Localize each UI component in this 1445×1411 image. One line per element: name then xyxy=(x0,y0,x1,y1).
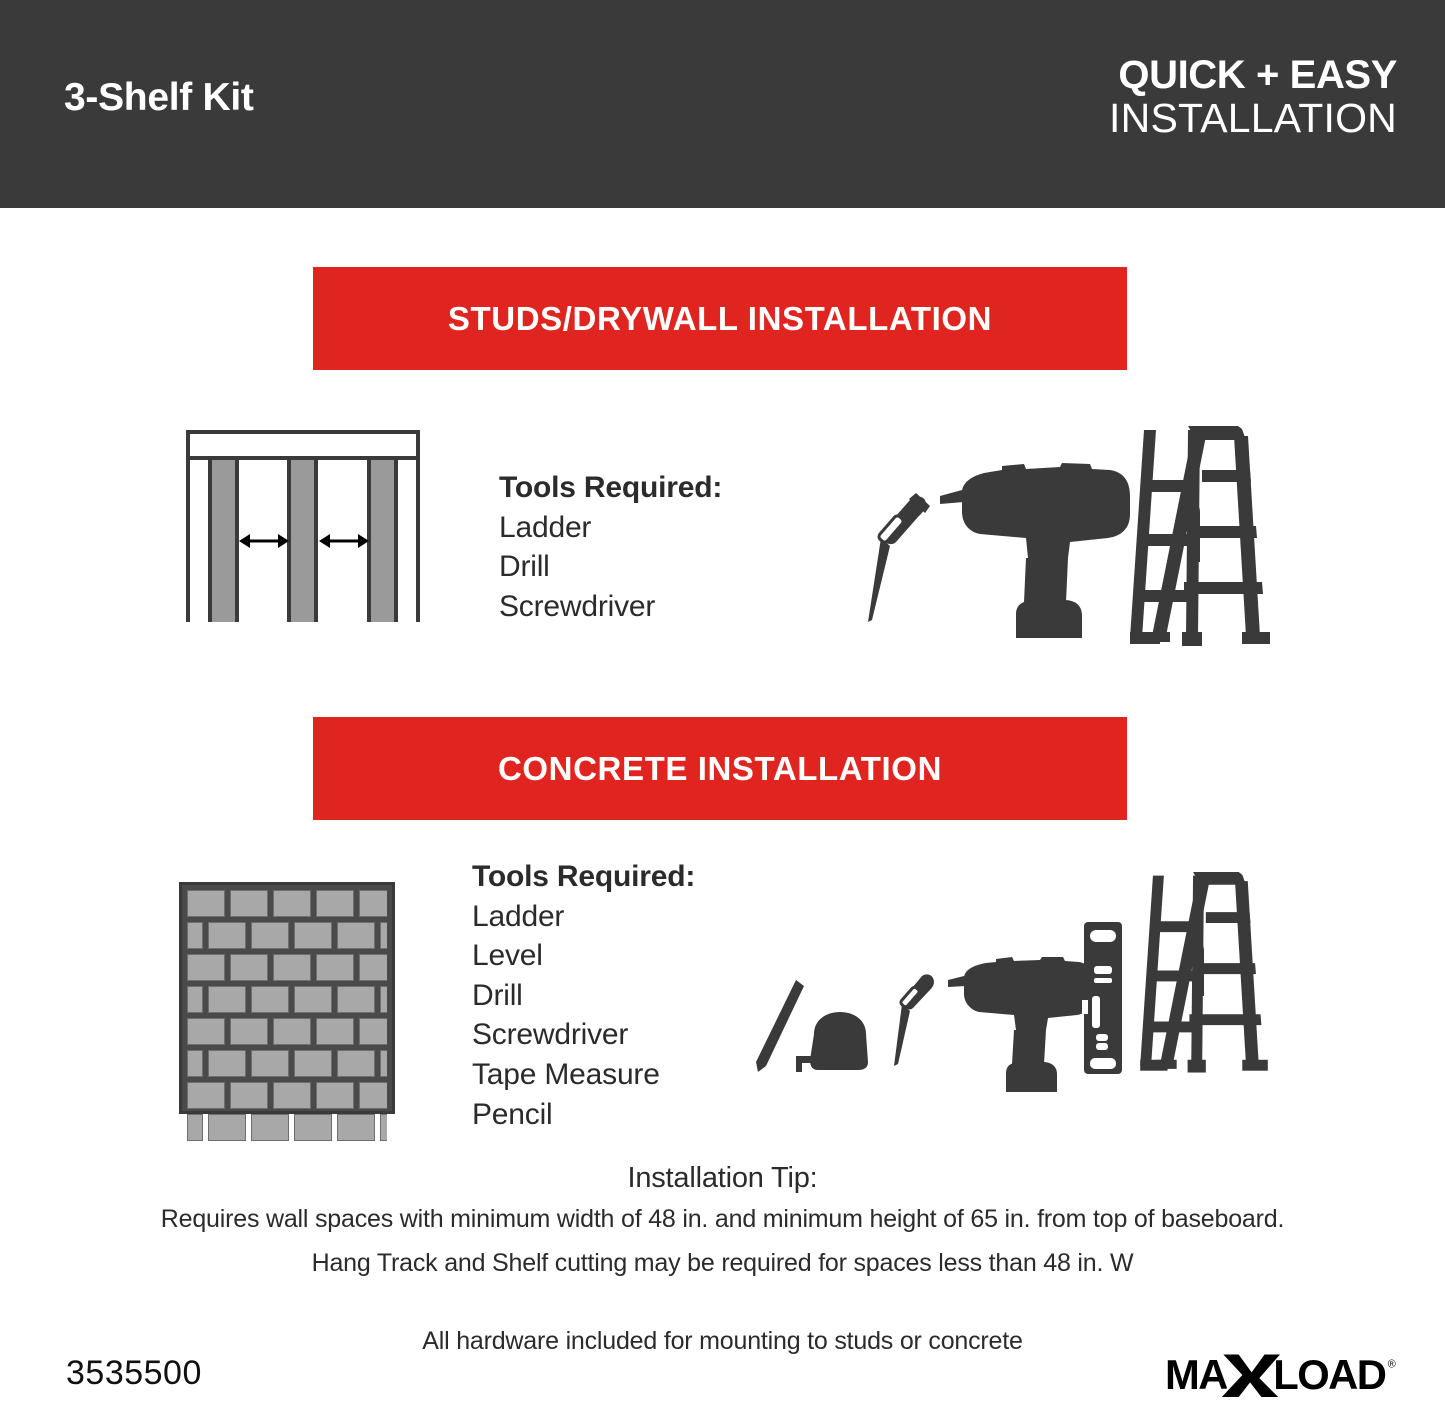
brick xyxy=(316,1018,354,1045)
logo-registered-mark: ® xyxy=(1388,1358,1396,1370)
brick xyxy=(273,1082,311,1109)
page-header: 3-Shelf Kit QUICK + EASY INSTALLATION xyxy=(0,0,1445,208)
tool-list-item: Drill xyxy=(472,976,695,1016)
tools-required-heading: Tools Required: xyxy=(472,857,695,897)
brick xyxy=(208,1050,246,1077)
brick xyxy=(359,890,387,917)
screwdriver-icon xyxy=(894,972,936,1072)
screwdriver-icon xyxy=(868,492,930,632)
brick xyxy=(251,1114,289,1141)
brick xyxy=(337,1114,375,1141)
brick xyxy=(230,890,268,917)
tool-list-item: Level xyxy=(472,936,695,976)
brick xyxy=(208,1114,246,1141)
brick xyxy=(187,1050,203,1077)
brick xyxy=(316,1082,354,1109)
brick xyxy=(337,986,375,1013)
logo-text-max: MA xyxy=(1165,1351,1228,1398)
brick xyxy=(380,986,387,1013)
brick xyxy=(230,954,268,981)
product-sku: 3535500 xyxy=(66,1354,202,1393)
brick-row xyxy=(187,890,387,917)
brick-row xyxy=(187,1050,387,1077)
header-tagline: QUICK + EASY INSTALLATION xyxy=(1109,54,1397,142)
brick-row xyxy=(187,1018,387,1045)
banner-label-studs: STUDS/DRYWALL INSTALLATION xyxy=(448,300,992,338)
top-plate xyxy=(186,430,420,460)
tape-measure-icon xyxy=(796,1012,872,1074)
ladder-icon xyxy=(1140,872,1268,1078)
brick-row xyxy=(187,1082,387,1109)
header-subtitle: INSTALLATION xyxy=(1109,96,1397,142)
installation-tip-line-1: Requires wall spaces with minimum width … xyxy=(0,1198,1445,1242)
brick xyxy=(359,954,387,981)
brick xyxy=(359,1082,387,1109)
stud-spacing-arrow-icon xyxy=(239,530,289,552)
brick-row xyxy=(187,986,387,1013)
tool-list-item: Screwdriver xyxy=(499,587,722,627)
brick xyxy=(337,922,375,949)
brick xyxy=(273,1018,311,1045)
brick xyxy=(187,986,203,1013)
stud xyxy=(367,460,398,622)
brick xyxy=(208,922,246,949)
brick xyxy=(251,922,289,949)
drill-icon xyxy=(940,462,1130,642)
stud-spacing-arrow-icon xyxy=(319,530,369,552)
concrete-tool-illustrations xyxy=(748,872,1268,1100)
level-icon xyxy=(1082,922,1124,1074)
brick xyxy=(251,1050,289,1077)
brick-row xyxy=(187,1114,387,1141)
concrete-tools-required: Tools Required: Ladder Level Drill Screw… xyxy=(472,857,695,1134)
brick xyxy=(380,1114,387,1141)
stud xyxy=(287,460,318,622)
tool-list-item: Drill xyxy=(499,547,722,587)
brick xyxy=(187,922,203,949)
brick xyxy=(316,890,354,917)
installation-tip-block: Installation Tip: Requires wall spaces w… xyxy=(0,1159,1445,1363)
installation-tip-heading: Installation Tip: xyxy=(0,1159,1445,1198)
tool-list-item: Ladder xyxy=(472,897,695,937)
studs-tool-illustrations xyxy=(868,424,1268,652)
wall-right-edge xyxy=(416,460,420,622)
tools-required-heading: Tools Required: xyxy=(499,468,722,508)
tool-list-item: Tape Measure xyxy=(472,1055,695,1095)
brick xyxy=(187,1082,225,1109)
brick xyxy=(294,1114,332,1141)
brick xyxy=(294,1050,332,1077)
brick xyxy=(187,1018,225,1045)
drill-icon xyxy=(948,956,1094,1096)
stud-wall-diagram xyxy=(186,430,420,652)
maxload-logo: MA LOAD ® xyxy=(1165,1348,1397,1402)
tool-list-item: Pencil xyxy=(472,1095,695,1135)
brick xyxy=(251,986,289,1013)
installation-instruction-page: 3-Shelf Kit QUICK + EASY INSTALLATION ST… xyxy=(0,0,1445,1411)
banner-label-concrete: CONCRETE INSTALLATION xyxy=(498,750,942,788)
brick xyxy=(380,922,387,949)
product-title: 3-Shelf Kit xyxy=(64,78,254,117)
tool-list-item: Ladder xyxy=(499,508,722,548)
ladder-icon xyxy=(1130,426,1270,652)
installation-tip-line-2: Hang Track and Shelf cutting may be requ… xyxy=(0,1242,1445,1286)
header-kicker: QUICK + EASY xyxy=(1109,54,1397,96)
studs-tools-required: Tools Required: Ladder Drill Screwdriver xyxy=(499,468,722,626)
brick xyxy=(208,986,246,1013)
brick xyxy=(359,1018,387,1045)
tool-list-item: Screwdriver xyxy=(472,1015,695,1055)
brick-row xyxy=(187,922,387,949)
brick-row xyxy=(187,954,387,981)
brick xyxy=(294,922,332,949)
brick-wall-diagram xyxy=(179,882,395,1114)
brick xyxy=(273,954,311,981)
brick xyxy=(187,1114,203,1141)
brick xyxy=(230,1018,268,1045)
brick xyxy=(187,954,225,981)
brick xyxy=(230,1082,268,1109)
stud xyxy=(208,460,239,622)
brick xyxy=(316,954,354,981)
logo-text-load: LOAD xyxy=(1273,1351,1385,1398)
brick xyxy=(380,1050,387,1077)
brick xyxy=(187,890,225,917)
brick xyxy=(337,1050,375,1077)
brick xyxy=(294,986,332,1013)
section-banner-studs: STUDS/DRYWALL INSTALLATION xyxy=(313,267,1127,370)
section-banner-concrete: CONCRETE INSTALLATION xyxy=(313,717,1127,820)
brick xyxy=(273,890,311,917)
wall-left-edge xyxy=(186,460,190,622)
